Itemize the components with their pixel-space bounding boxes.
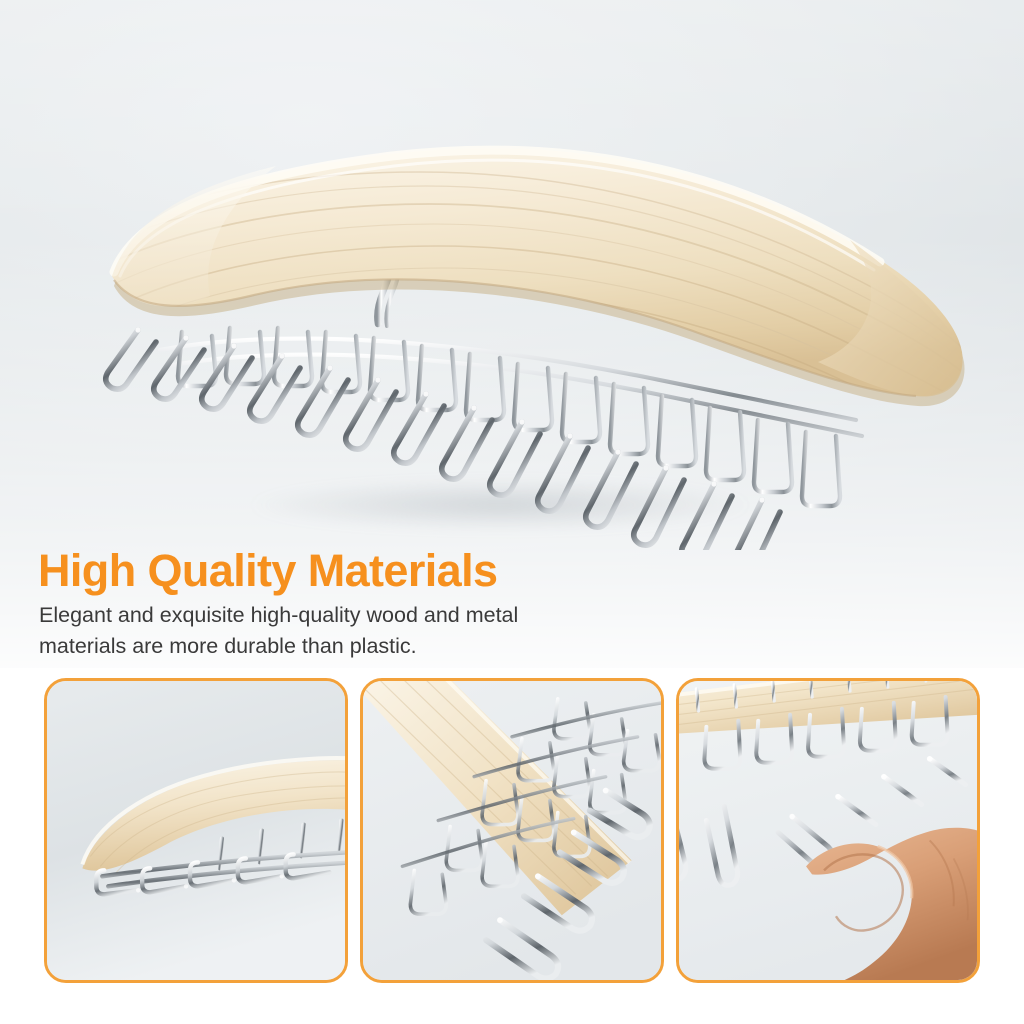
- description-text: Elegant and exquisite high-quality wood …: [39, 600, 659, 662]
- detail-panels: [0, 678, 1024, 990]
- hero-section: High Quality Materials Elegant and exqui…: [0, 0, 1024, 668]
- infographic-root: High Quality Materials Elegant and exqui…: [0, 0, 1024, 1024]
- description-line-2: materials are more durable than plastic.: [39, 631, 659, 662]
- product-photo-hanger: [90, 80, 990, 550]
- detail-panel-3[interactable]: [676, 678, 980, 983]
- detail-panel-1[interactable]: [44, 678, 348, 983]
- detail-panel-2[interactable]: [360, 678, 664, 983]
- description-line-1: Elegant and exquisite high-quality wood …: [39, 600, 659, 631]
- page-title: High Quality Materials: [38, 548, 497, 593]
- wood-bar: [98, 148, 988, 448]
